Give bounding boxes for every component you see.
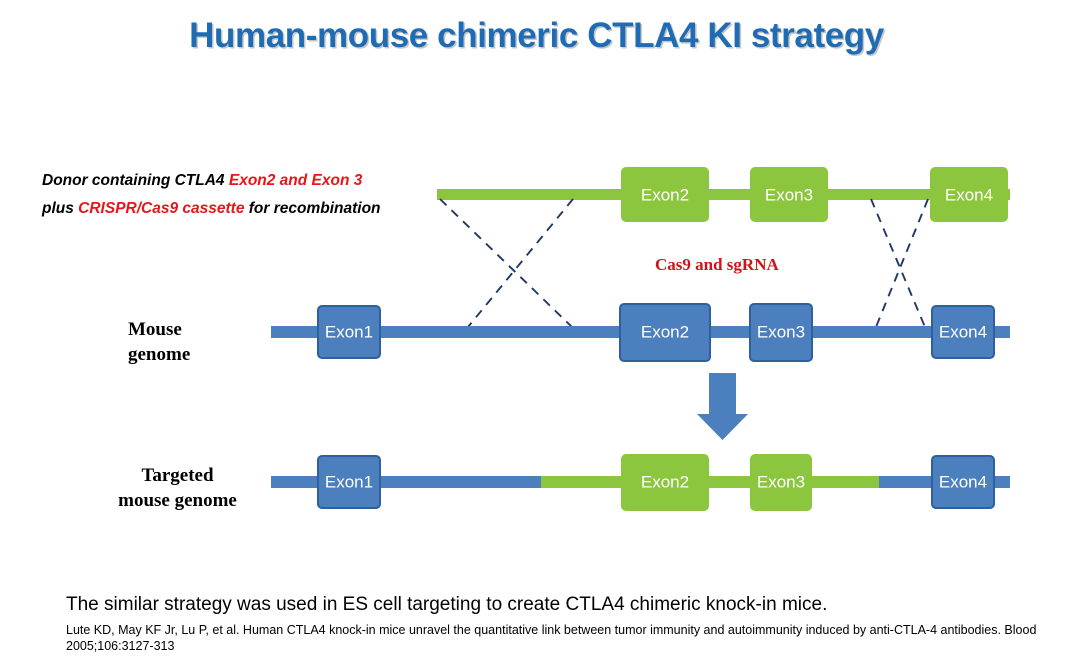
donor-exon2-box [621, 167, 709, 222]
mouse-genome-label-line-2: genome [128, 342, 278, 367]
targeted-exon2-box [621, 454, 709, 511]
targeted-exon2: Exon2 [621, 454, 709, 511]
targeted-genome-label: Targeted mouse genome [60, 463, 295, 513]
donor-caption-line2-prefix: plus [42, 200, 78, 217]
targeted-genome-row: Exon1 Exon2 Exon3 Exon4 [271, 454, 1010, 511]
mouse-exon3-box [750, 304, 812, 361]
targeted-exon4-label: Exon4 [939, 472, 987, 491]
donor-caption-line-1: Donor containing CTLA4 Exon2 and Exon 3 [42, 167, 462, 195]
crossover-left-up [468, 199, 573, 327]
mouse-exon2-label: Exon2 [641, 322, 689, 341]
crossover-right-up [876, 199, 928, 327]
targeted-genome-label-line-2: mouse genome [60, 488, 295, 513]
mouse-exon4-box [932, 306, 994, 358]
mouse-genome-label: Mouse genome [128, 317, 278, 367]
targeted-backbone-green-mid [541, 476, 880, 488]
donor-caption: Donor containing CTLA4 Exon2 and Exon 3 … [42, 167, 462, 223]
targeted-genome-label-line-1: Targeted [60, 463, 295, 488]
donor-caption-line2-highlight: CRISPR/Cas9 cassette [78, 200, 244, 217]
targeted-exon3-label: Exon3 [757, 472, 805, 491]
donor-exon2-label: Exon2 [641, 185, 689, 204]
mouse-exon1-label: Exon1 [325, 322, 373, 341]
transformation-arrow [697, 373, 748, 440]
donor-exon4-box [930, 167, 1008, 222]
down-arrow-icon [697, 373, 748, 440]
targeted-exon4: Exon4 [932, 456, 994, 508]
mouse-genome-row: Exon1 Exon2 Exon3 Exon4 [271, 304, 1010, 361]
crossover-right-down [871, 199, 925, 327]
donor-backbone-line [437, 189, 1010, 200]
footer-citation: Lute KD, May KF Jr, Lu P, et al. Human C… [66, 622, 1056, 654]
footer-summary-text: The similar strategy was used in ES cell… [66, 594, 827, 616]
targeted-exon1: Exon1 [318, 456, 380, 508]
donor-exon3-label: Exon3 [765, 185, 813, 204]
targeted-backbone-blue-right [879, 476, 1010, 488]
targeted-exon4-box [932, 456, 994, 508]
donor-caption-line1-prefix: Donor containing CTLA4 [42, 172, 229, 189]
targeted-backbone-blue-left [271, 476, 542, 488]
mouse-exon3: Exon3 [750, 304, 812, 361]
footer-citation-line-1: Lute KD, May KF Jr, Lu P, et al. Human C… [66, 623, 866, 637]
donor-exon4-label: Exon4 [945, 185, 993, 204]
targeted-exon3-box [750, 454, 812, 511]
mouse-genome-backbone-line [271, 326, 1010, 338]
targeted-exon1-box [318, 456, 380, 508]
donor-caption-line2-suffix: for recombination [244, 200, 380, 217]
donor-caption-line1-highlight: Exon2 and Exon 3 [229, 172, 363, 189]
mouse-genome-label-line-1: Mouse [128, 317, 278, 342]
targeted-exon3: Exon3 [750, 454, 812, 511]
mouse-exon3-label: Exon3 [757, 322, 805, 341]
cas9-sgrna-annotation: Cas9 and sgRNA [655, 255, 779, 275]
mouse-exon1: Exon1 [318, 306, 380, 358]
mouse-exon2-box [620, 304, 710, 361]
donor-caption-line-2: plus CRISPR/Cas9 cassette for recombinat… [42, 195, 462, 223]
mouse-exon4: Exon4 [932, 306, 994, 358]
mouse-exon4-label: Exon4 [939, 322, 987, 341]
mouse-exon1-box [318, 306, 380, 358]
mouse-exon2: Exon2 [620, 304, 710, 361]
targeted-exon1-label: Exon1 [325, 472, 373, 491]
targeted-exon2-label: Exon2 [641, 472, 689, 491]
donor-exon3-box [750, 167, 828, 222]
slide-canvas: { "title": "Human-mouse chimeric CTLA4 K… [0, 0, 1073, 668]
donor-construct-row: Exon2 Exon3 Exon4 [437, 167, 1010, 222]
page-title: Human-mouse chimeric CTLA4 KI strategy [0, 16, 1073, 56]
